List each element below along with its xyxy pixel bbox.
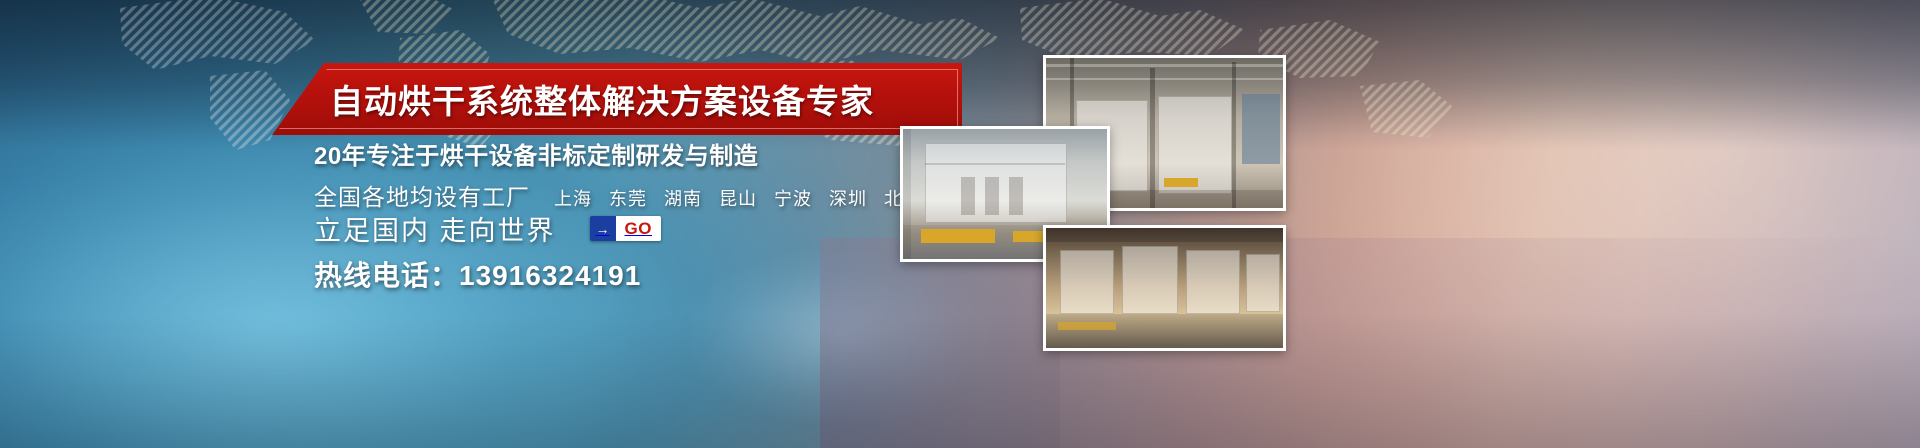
photo-drying-line[interactable] [1043, 225, 1286, 351]
city-item: 东莞 [609, 185, 647, 211]
photo-drying-line-image [1046, 228, 1283, 348]
slogan-text: 立足国内 走向世界 [314, 209, 556, 248]
headline-ribbon: 自动烘干系统整体解决方案设备专家 [272, 63, 962, 135]
city-item: 昆山 [719, 185, 757, 211]
city-item: 深圳 [829, 185, 867, 211]
go-button-label: GO [616, 216, 661, 241]
headline-title: 自动烘干系统整体解决方案设备专家 [330, 63, 956, 135]
city-item: 宁波 [774, 185, 812, 211]
factories-line: 全国各地均设有工厂 上海 东莞 湖南 昆山 宁波 深圳 北京 天津 [314, 178, 994, 212]
subtitle-experience: 20年专注于烘干设备非标定制研发与制造 [314, 136, 758, 171]
city-item: 湖南 [664, 185, 702, 211]
arrow-right-icon: → [590, 216, 616, 241]
factories-lead-label: 全国各地均设有工厂 [314, 178, 530, 212]
promo-banner: 自动烘干系统整体解决方案设备专家 20年专注于烘干设备非标定制研发与制造 全国各… [0, 0, 1920, 448]
city-item: 上海 [554, 185, 592, 211]
hotline-text: 热线电话：13916324191 [314, 254, 641, 294]
go-button[interactable]: → GO [590, 216, 661, 241]
slogan-line: 立足国内 走向世界 → GO [314, 209, 661, 248]
